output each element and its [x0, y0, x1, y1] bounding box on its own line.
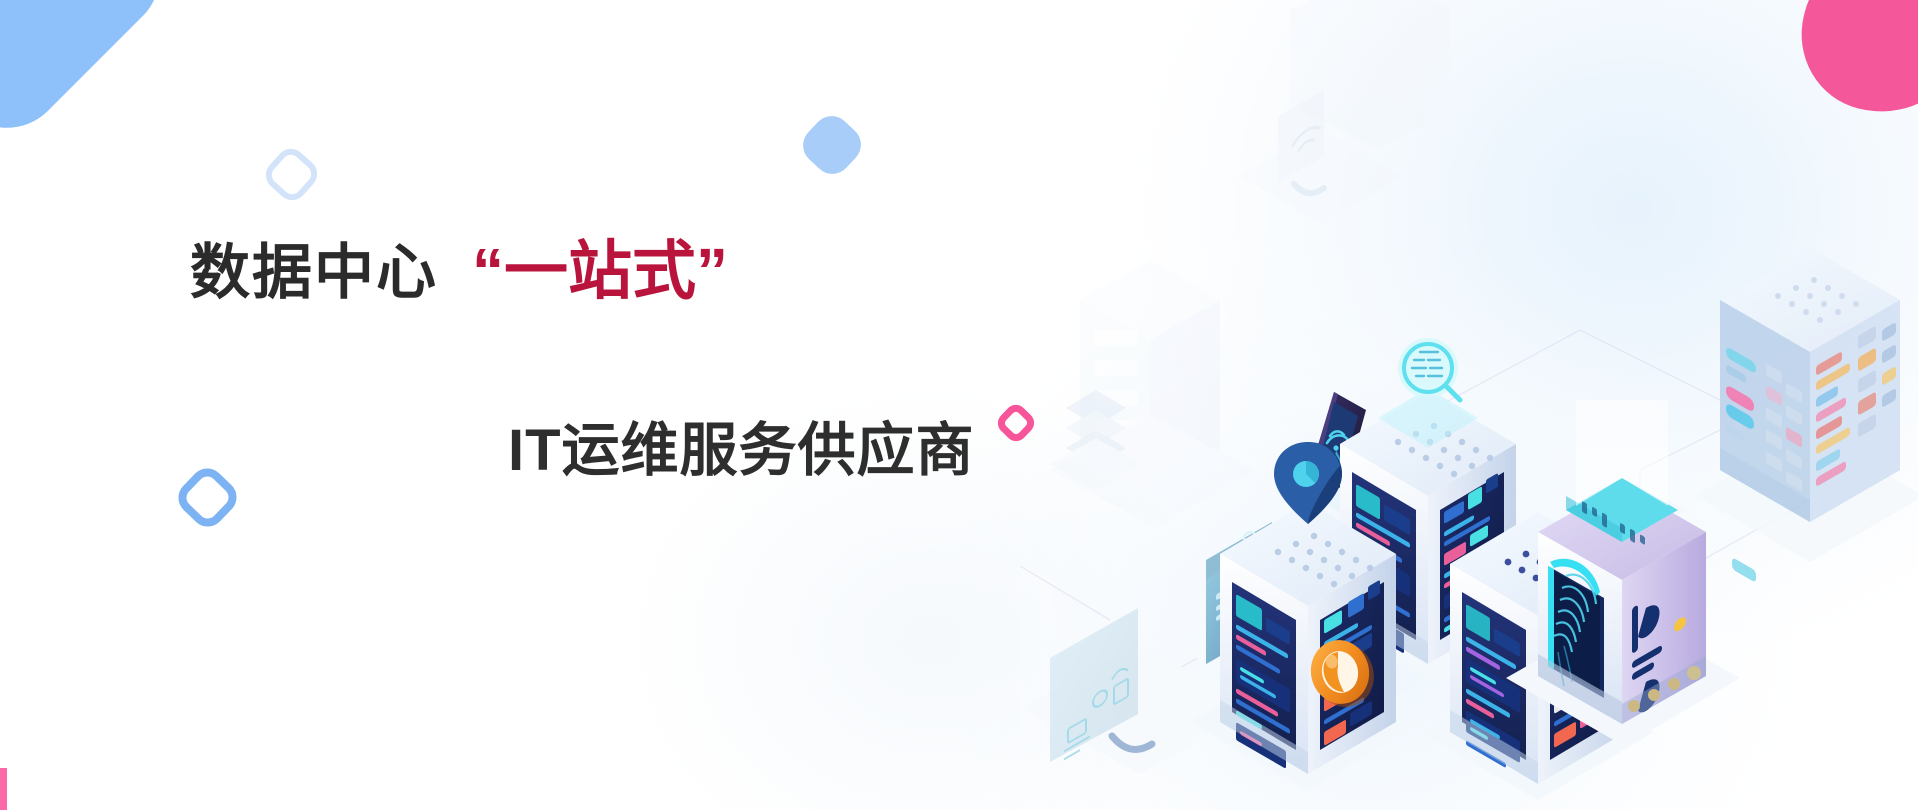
edge-pink-bar-decoration — [0, 768, 7, 810]
security-cabinet-fingerprint — [1506, 400, 1740, 746]
data-center-illustration — [1020, 0, 1918, 810]
headline-line-2: IT运维服务供应商 — [508, 403, 1020, 487]
headline-line-1: 数据中心 “一站式” — [190, 238, 1020, 305]
corner-blue-square-decoration — [0, 0, 184, 152]
dot-blue-decoration — [795, 108, 868, 181]
headline-dark-text: 数据中心 — [190, 241, 438, 304]
headline-red-text: “一站式” — [472, 238, 728, 305]
server-rack-tall-far-right — [1696, 240, 1918, 583]
ghost-cube-large — [1020, 520, 1050, 782]
ring-light-blue-decoration — [260, 143, 324, 207]
headline-block: 数据中心 “一站式” IT运维服务供应商 — [190, 238, 1020, 487]
hero-banner: 数据中心 “一站式” IT运维服务供应商 — [0, 0, 1918, 810]
